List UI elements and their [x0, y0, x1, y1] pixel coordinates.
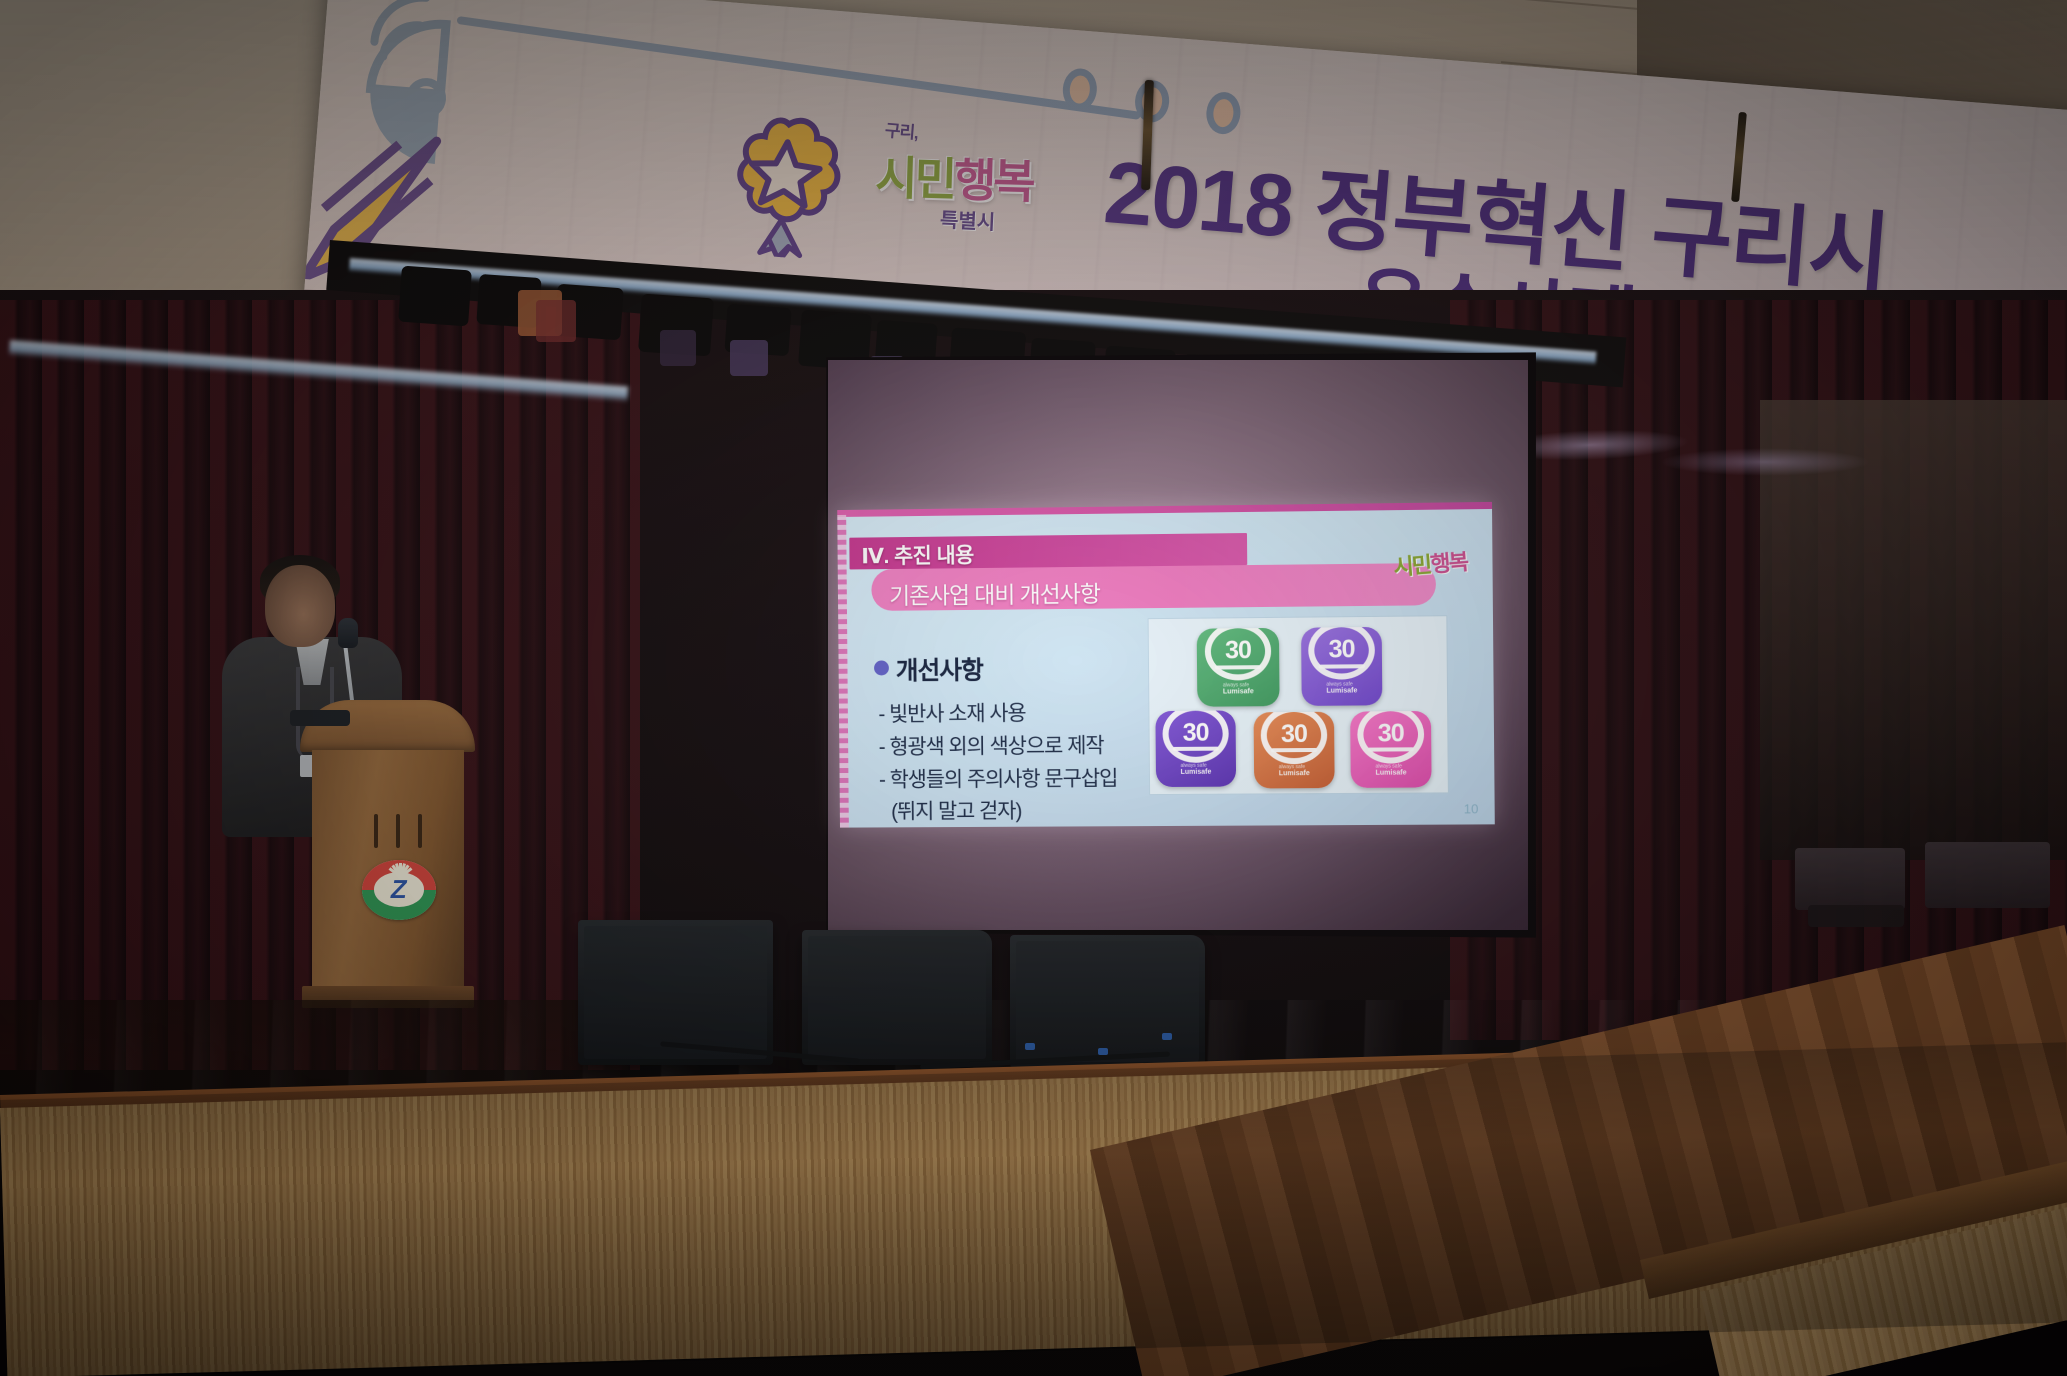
badge-underline — [1368, 747, 1415, 751]
slide-bullet-marker — [874, 660, 889, 675]
stage-chair-base — [1808, 905, 1904, 927]
light-gel-red — [536, 300, 576, 342]
light-gel-purple — [730, 340, 768, 376]
badge-brand: always safeLumisafe — [1180, 763, 1211, 776]
light-gel-purple — [660, 330, 696, 366]
presenter-head — [265, 565, 335, 647]
reflective-badge: 30 always safeLumisafe — [1301, 627, 1382, 706]
stage-light-fixture — [398, 266, 472, 327]
slide-bullet-item: (뛰지 말고 걷자) — [891, 795, 1022, 826]
badge-number: 30 — [1183, 718, 1209, 747]
badge-brand: always safeLumisafe — [1375, 763, 1406, 776]
slide-section-header: Ⅳ. 추진 내용 — [861, 539, 974, 570]
wooden-podium: Z — [300, 700, 475, 1010]
speaker-face — [1016, 941, 1199, 1062]
badge-brand: always safeLumisafe — [1326, 681, 1357, 694]
badge-number: 30 — [1328, 636, 1354, 665]
guri-logo-top: 구리, — [884, 116, 919, 144]
emblem-mark: Z — [389, 876, 409, 902]
slide-bullet-title: 개선사항 — [896, 651, 983, 688]
guri-logo-main: 시민행복 — [875, 142, 1034, 212]
slide-bullet-item: - 빛반사 소재 사용 — [878, 697, 1025, 728]
guri-city-logo: 구리, 시민행복 특별시 — [871, 120, 1049, 243]
mic-stand-base — [290, 710, 350, 726]
speaker-connector-led — [1098, 1048, 1108, 1055]
badge-underline — [1271, 748, 1317, 752]
podium-top — [300, 700, 475, 752]
slide-bullet-item: - 학생들의 주의사항 문구삽입 — [879, 762, 1118, 793]
podium-vent-slots — [374, 814, 426, 848]
slide-guri-logo: 시민행복 — [1393, 546, 1474, 583]
stage-monitor-2 — [802, 930, 992, 1065]
reflective-badge: 30 always safeLumisafe — [1350, 711, 1431, 788]
stage-chair — [1925, 842, 2050, 908]
reflective-badge: 30 always safeLumisafe — [1155, 710, 1236, 787]
award-medal-icon — [722, 108, 848, 262]
badge-brand: always safeLumisafe — [1223, 682, 1254, 695]
slide-side-dots — [837, 510, 849, 828]
presentation-slide: Ⅳ. 추진 내용 기존사업 대비 개선사항 시민행복 개선사항 - 빛반사 소재… — [837, 502, 1495, 828]
speaker-connector-led — [1025, 1043, 1035, 1050]
badge-underline — [1173, 746, 1219, 750]
reflective-badge: 30 always safeLumisafe — [1197, 628, 1280, 707]
slide-page-number: 10 — [1464, 801, 1479, 816]
badge-underline — [1318, 664, 1364, 668]
badge-number: 30 — [1281, 720, 1307, 749]
wall-wash-light — [1660, 448, 1870, 476]
guri-city-emblem: Z — [362, 860, 436, 920]
conference-hall-photo: 구리, 시민행복 특별시 2018 정부혁신 구리시 우수사례 경진대회 201… — [0, 0, 2067, 1376]
slide-product-photo: 30 always safeLumisafe 30 always safeLum… — [1148, 615, 1449, 795]
reflective-badge: 30 always safeLumisafe — [1254, 712, 1335, 789]
badge-underline — [1215, 665, 1261, 669]
guri-logo-bottom: 특별시 — [939, 204, 995, 235]
microphone-head — [338, 618, 358, 648]
badge-number: 30 — [1225, 636, 1251, 665]
speaker-face — [808, 936, 986, 1059]
slide-bullet-item: - 형광색 외의 색상으로 제작 — [879, 729, 1104, 760]
slide-subheader: 기존사업 대비 개선사항 — [889, 575, 1100, 611]
emblem-center: Z — [374, 872, 424, 907]
stage-chair — [1795, 848, 1905, 910]
speaker-connector-led — [1162, 1033, 1172, 1040]
podium-body: Z — [312, 750, 464, 990]
speaker-face — [584, 926, 767, 1059]
badge-brand: always safeLumisafe — [1279, 764, 1310, 777]
badge-number: 30 — [1378, 719, 1404, 748]
slide-guri-logo-text: 시민행복 — [1392, 544, 1468, 582]
